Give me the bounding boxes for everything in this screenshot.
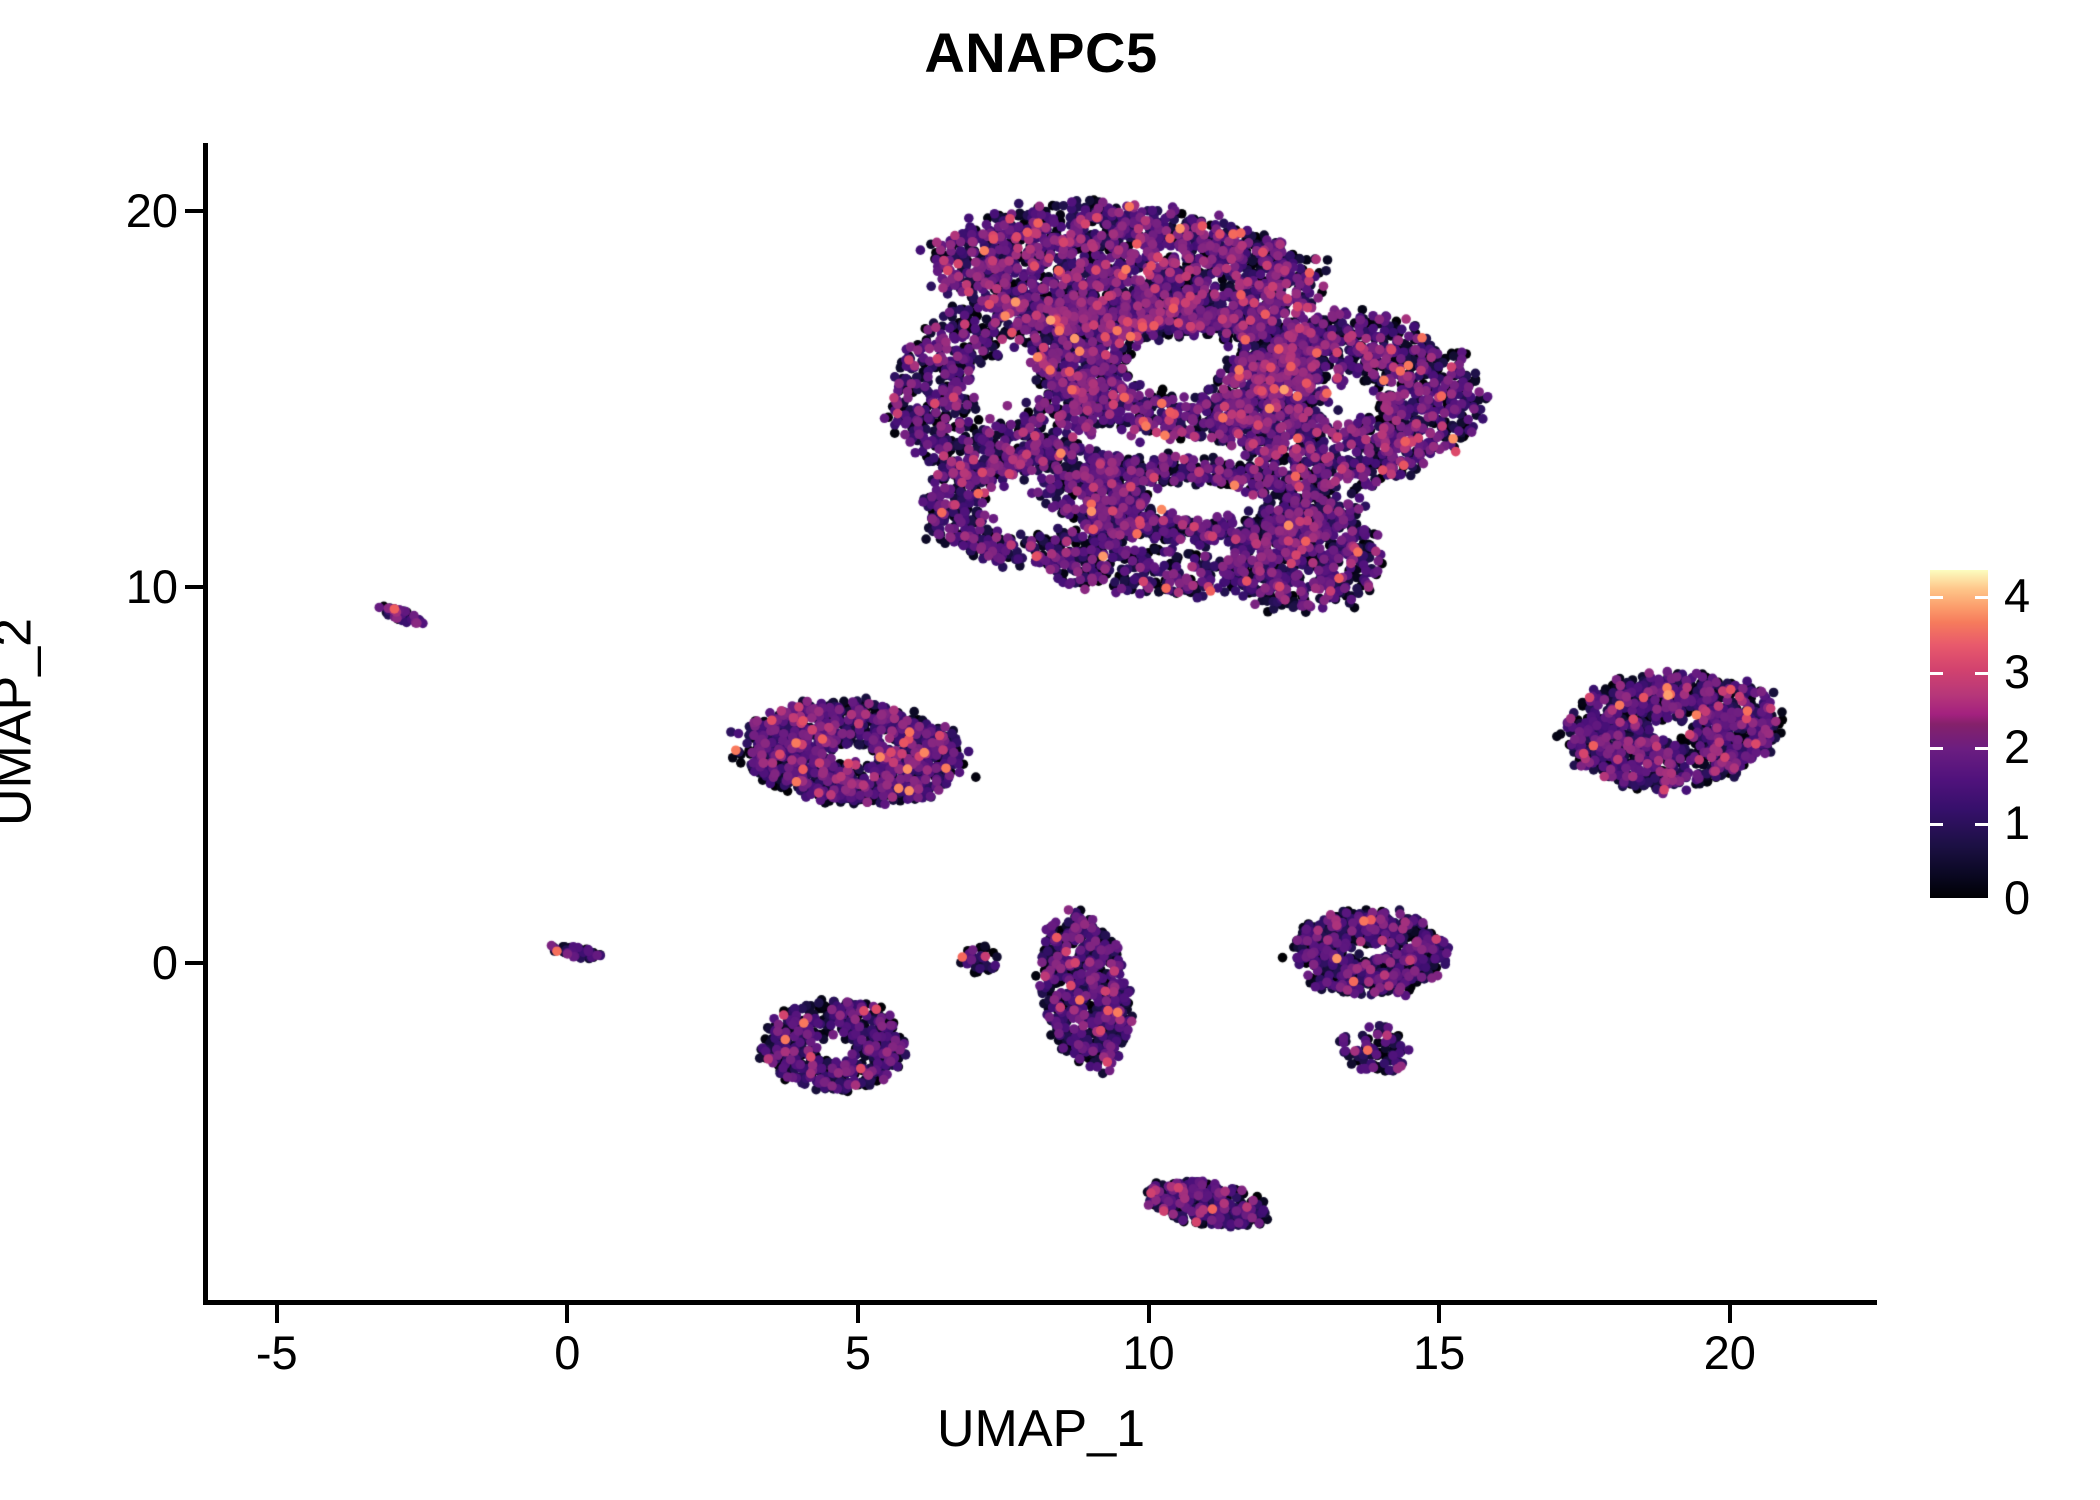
colorbar-tick-label: 0: [2004, 870, 2030, 926]
y-tick-mark: [185, 585, 203, 589]
colorbar-tick-mark: [1975, 823, 1988, 826]
colorbar-tick-mark: [1930, 672, 1943, 675]
x-axis-line: [203, 1300, 1877, 1305]
x-tick-label: 0: [487, 1325, 647, 1381]
x-tick-mark: [1437, 1305, 1441, 1323]
x-tick-mark: [1728, 1305, 1732, 1323]
colorbar-tick-mark: [1930, 596, 1943, 599]
x-tick-mark: [565, 1305, 569, 1323]
colorbar-legend: 43210: [1930, 570, 2090, 906]
y-axis-title: UMAP_2: [0, 143, 45, 1302]
y-tick-mark: [185, 961, 203, 965]
x-tick-label: 5: [778, 1325, 938, 1381]
colorbar-gradient: [1930, 570, 1988, 898]
scatter-plot-canvas: [207, 143, 1875, 1302]
y-axis-line: [203, 143, 208, 1305]
x-tick-mark: [275, 1305, 279, 1323]
umap-feature-plot-figure: ANAPC5 -505101520 01020 UMAP_1 UMAP_2 43…: [0, 0, 2100, 1500]
plot-panel: [207, 143, 1875, 1302]
colorbar-tick-label: 2: [2004, 719, 2030, 775]
page-title: ANAPC5: [207, 22, 1875, 84]
x-axis-title: UMAP_1: [207, 1398, 1875, 1460]
colorbar-tick-mark: [1975, 672, 1988, 675]
x-tick-label: 20: [1650, 1325, 1810, 1381]
colorbar-tick-mark: [1975, 747, 1988, 750]
colorbar-tick-mark: [1930, 747, 1943, 750]
x-tick-label: -5: [197, 1325, 357, 1381]
colorbar-tick-mark: [1975, 596, 1988, 599]
colorbar-tick-label: 1: [2004, 795, 2030, 851]
colorbar-tick-label: 4: [2004, 568, 2030, 624]
colorbar-tick-label: 3: [2004, 644, 2030, 700]
y-tick-mark: [185, 209, 203, 213]
colorbar-tick-mark: [1930, 823, 1943, 826]
x-tick-mark: [1147, 1305, 1151, 1323]
x-tick-mark: [856, 1305, 860, 1323]
x-tick-label: 10: [1069, 1325, 1229, 1381]
x-tick-label: 15: [1359, 1325, 1519, 1381]
